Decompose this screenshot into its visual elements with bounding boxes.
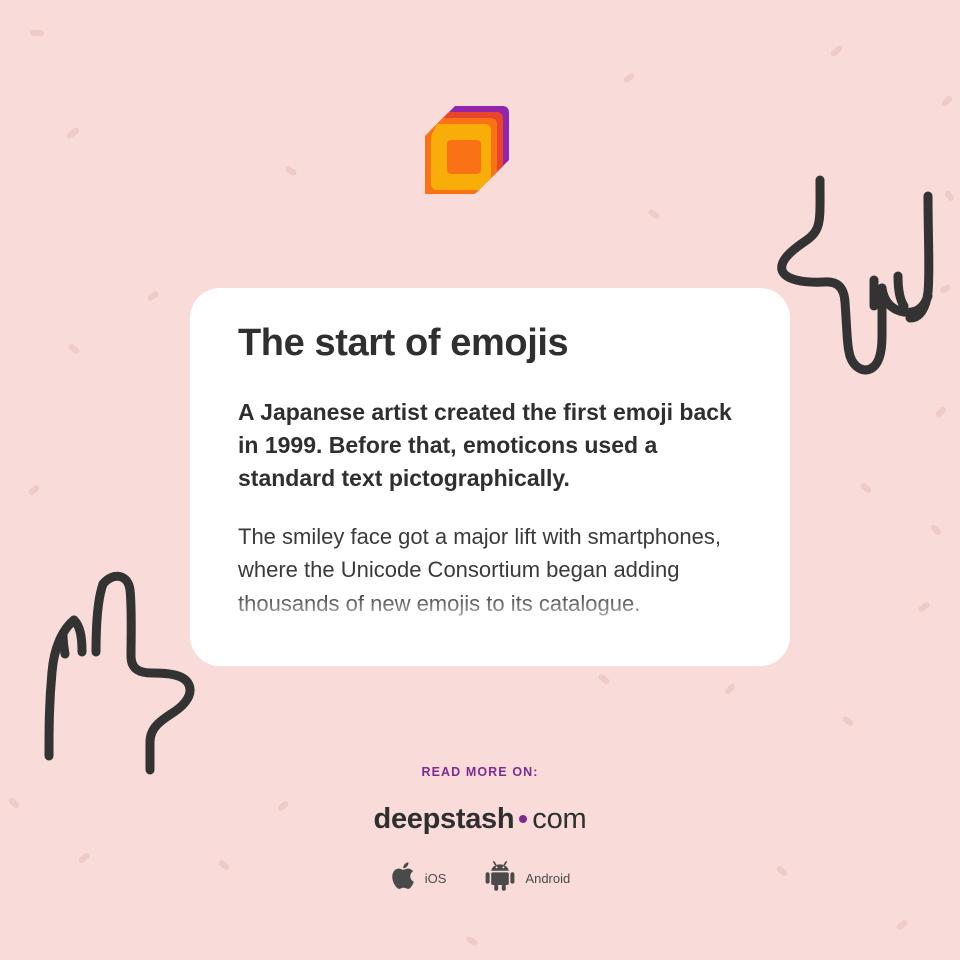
confetti-dash bbox=[895, 919, 908, 931]
confetti-dash bbox=[930, 524, 943, 536]
confetti-dash bbox=[939, 284, 952, 295]
read-more-label: READ MORE ON: bbox=[0, 765, 960, 779]
confetti-dash bbox=[917, 601, 930, 613]
brand-name: deepstash bbox=[374, 803, 515, 835]
confetti-dash bbox=[66, 126, 81, 139]
confetti-dash bbox=[146, 290, 159, 302]
ios-store-link[interactable]: iOS bbox=[390, 860, 447, 896]
deepstash-logo bbox=[425, 98, 525, 198]
confetti-dash bbox=[647, 208, 660, 220]
confetti-dash bbox=[830, 44, 844, 57]
page-title: The start of emojis bbox=[238, 322, 742, 366]
android-label: Android bbox=[525, 871, 570, 886]
confetti-dash bbox=[859, 482, 872, 494]
ios-label: iOS bbox=[425, 871, 447, 886]
confetti-dash bbox=[465, 935, 478, 946]
confetti-dash bbox=[841, 715, 854, 727]
confetti-dash bbox=[284, 165, 297, 176]
poster-canvas: The start of emojis A Japanese artist cr… bbox=[0, 0, 960, 960]
brand-wordmark[interactable]: deepstashcom bbox=[0, 805, 960, 834]
confetti-dash bbox=[598, 673, 611, 685]
footer: READ MORE ON: deepstashcom iOS bbox=[0, 765, 960, 896]
idea-card-content: The start of emojis A Japanese artist cr… bbox=[190, 288, 790, 620]
android-store-link[interactable]: Android bbox=[484, 860, 570, 896]
confetti-dash bbox=[28, 484, 41, 496]
confetti-dash bbox=[944, 190, 956, 202]
confetti-dash bbox=[724, 683, 737, 696]
idea-body-paragraph: The smiley face got a major lift with sm… bbox=[238, 520, 742, 620]
idea-lead-paragraph: A Japanese artist created the first emoj… bbox=[238, 396, 742, 496]
confetti-dash bbox=[622, 72, 635, 84]
apple-icon bbox=[390, 860, 416, 896]
brand-dot-icon bbox=[519, 815, 527, 823]
confetti-dash bbox=[935, 406, 948, 419]
android-icon bbox=[484, 860, 516, 896]
app-store-links: iOS bbox=[0, 860, 960, 896]
confetti-dash bbox=[941, 95, 954, 107]
brand-tld: com bbox=[532, 803, 586, 835]
idea-card[interactable]: The start of emojis A Japanese artist cr… bbox=[190, 288, 790, 666]
hand-pointing-up-icon bbox=[18, 556, 218, 786]
confetti-dash bbox=[67, 343, 80, 355]
confetti-dash bbox=[30, 30, 44, 37]
